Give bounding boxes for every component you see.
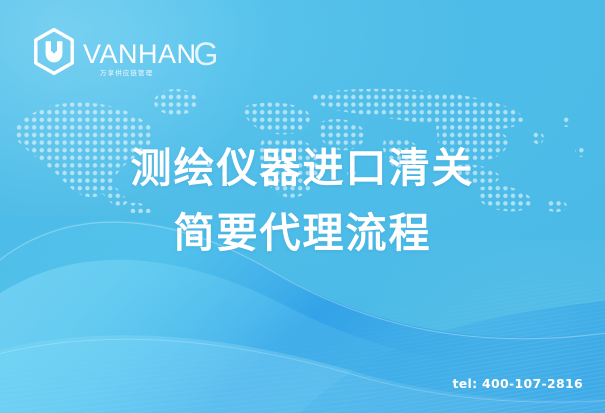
brand-subtitle: 万享供应链管理 (100, 67, 153, 77)
telephone-text[interactable]: tel: 400-107-2816 (452, 376, 583, 391)
marketing-banner: VANHAN G 万享供应链管理 测绘仪器进口清关 简要代理流程 tel: 40… (0, 0, 605, 413)
wordmark-main: VANHAN (83, 41, 197, 68)
brand-wordmark: VANHAN G 万享供应链管理 (83, 36, 218, 68)
wordmark-tail: G (194, 38, 219, 70)
brand-logo[interactable]: VANHAN G 万享供应链管理 (32, 28, 218, 75)
hexagon-u-logo-icon (32, 28, 76, 75)
